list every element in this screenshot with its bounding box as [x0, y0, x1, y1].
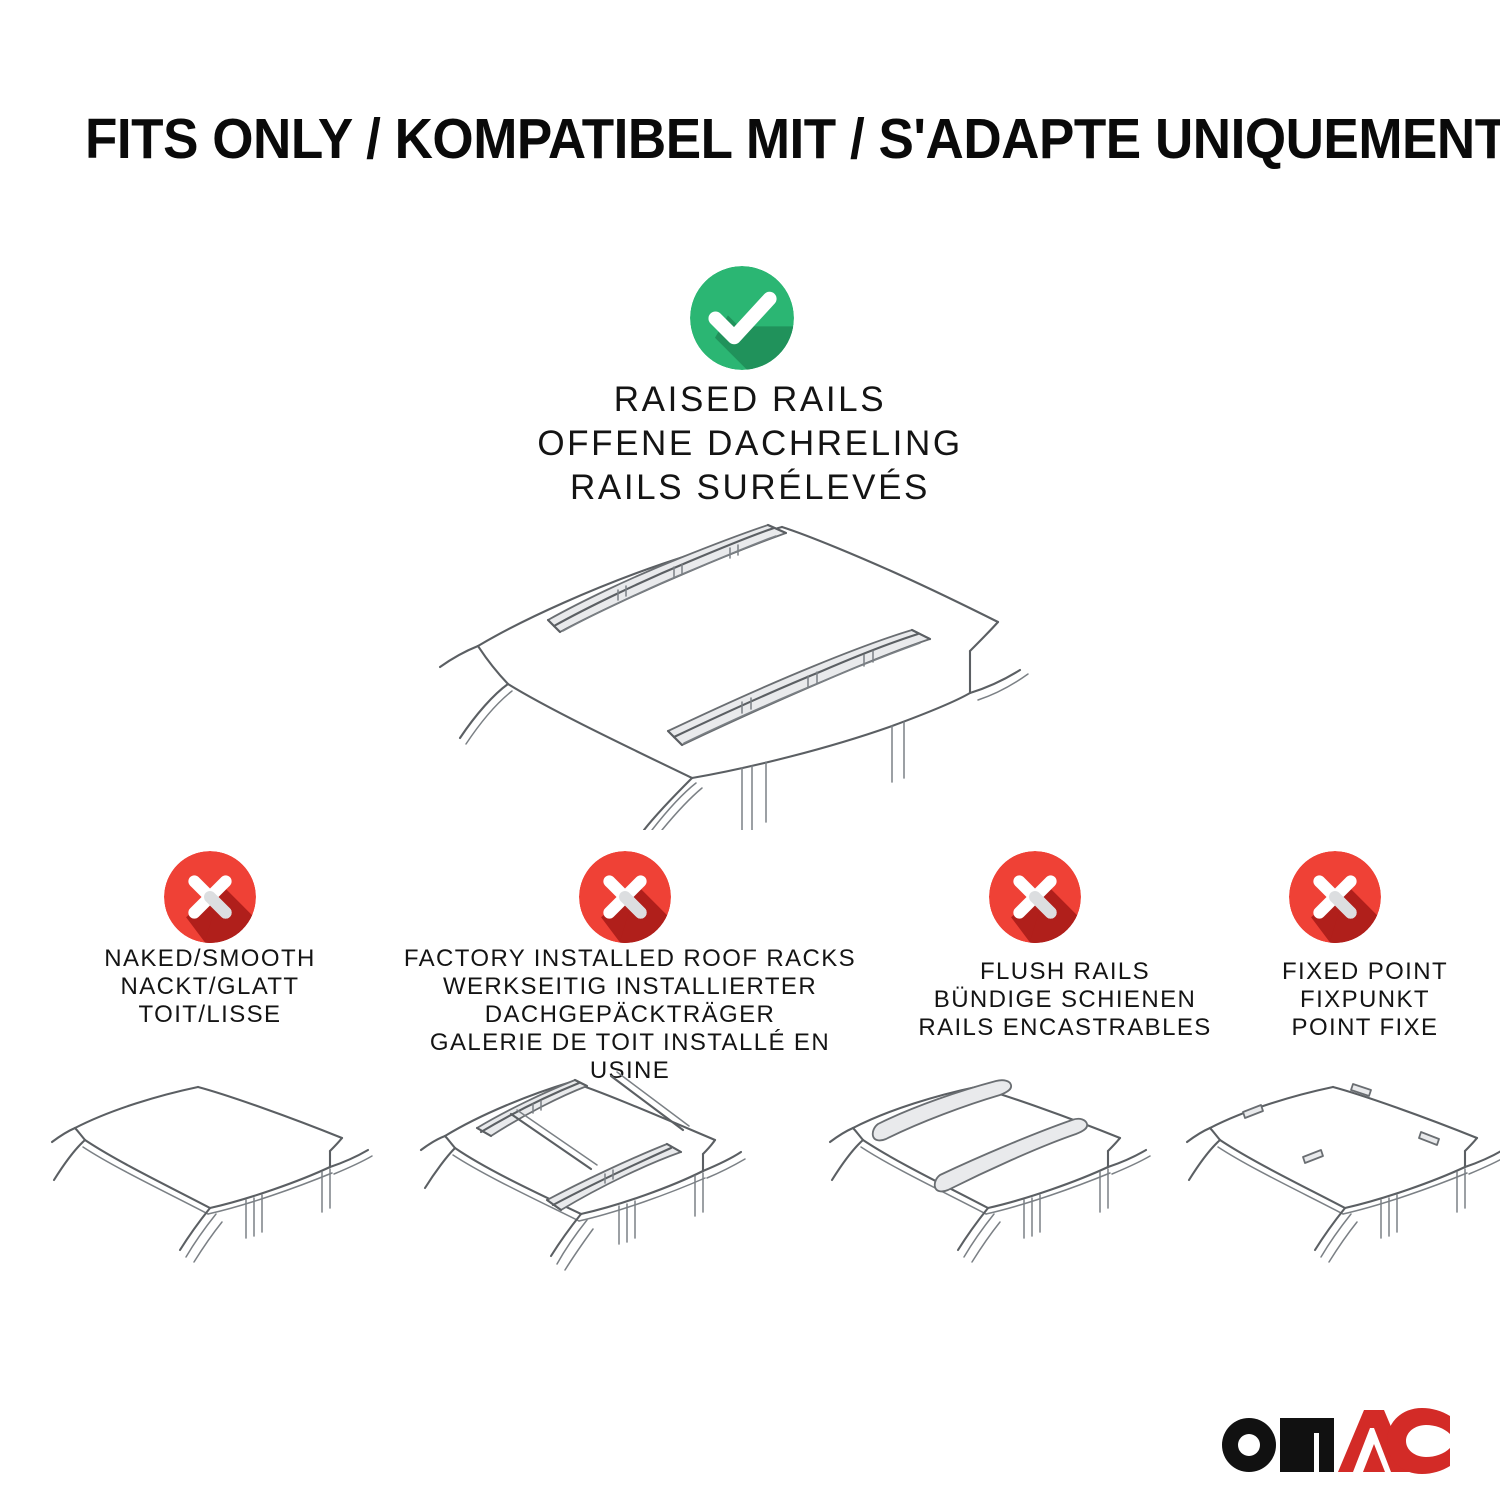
- incompatible-4-line-3: POINT FIXE: [1240, 1014, 1490, 1042]
- cross-circle-icon: [989, 851, 1081, 943]
- car-roof-factory-installed-roof-racks-illustration: [415, 1052, 765, 1267]
- omac-logo: [1218, 1404, 1450, 1476]
- incompatible-caption-3: FLUSH RAILS BÜNDIGE SCHIENEN RAILS ENCAS…: [855, 958, 1275, 1042]
- incompatible-3-line-3: RAILS ENCASTRABLES: [855, 1014, 1275, 1042]
- incompatible-4-line-2: FIXPUNKT: [1240, 986, 1490, 1014]
- incompatible-4-line-1: FIXED POINT: [1240, 958, 1490, 986]
- incompatible-1-line-3: TOIT/LISSE: [30, 1001, 390, 1029]
- incompatible-caption-1: NAKED/SMOOTH NACKT/GLATT TOIT/LISSE: [30, 945, 390, 1029]
- cross-circle-icon: [164, 851, 256, 943]
- logo-letter-o: [1222, 1418, 1276, 1472]
- incompatible-1-line-1: NAKED/SMOOTH: [30, 945, 390, 973]
- car-roof-fixed-point-illustration: [1185, 1062, 1500, 1277]
- incompatible-caption-4: FIXED POINT FIXPUNKT POINT FIXE: [1240, 958, 1490, 1042]
- car-roof-with-raised-rails-illustration: [430, 500, 1080, 830]
- incompatible-2-line-3: DACHGEPÄCKTRÄGER: [395, 1001, 865, 1029]
- check-circle-icon: [690, 266, 794, 370]
- page-title: FITS ONLY / KOMPATIBEL MIT / S'ADAPTE UN…: [85, 108, 1331, 170]
- incompatible-2-line-2: WERKSEITIG INSTALLIERTER: [395, 973, 865, 1001]
- incompatible-1-line-2: NACKT/GLATT: [30, 973, 390, 1001]
- incompatible-2-line-1: FACTORY INSTALLED ROOF RACKS: [395, 945, 865, 973]
- incompatible-3-line-1: FLUSH RAILS: [855, 958, 1275, 986]
- compatible-line-2: OFFENE DACHRELING: [470, 422, 1030, 466]
- cross-circle-icon: [579, 851, 671, 943]
- car-roof-naked-smooth-illustration: [50, 1062, 400, 1277]
- car-roof-flush-rails-illustration: [828, 1062, 1178, 1277]
- infographic-canvas: FITS ONLY / KOMPATIBEL MIT / S'ADAPTE UN…: [0, 0, 1500, 1500]
- cross-circle-icon: [1289, 851, 1381, 943]
- incompatible-3-line-2: BÜNDIGE SCHIENEN: [855, 986, 1275, 1014]
- compatible-line-1: RAISED RAILS: [470, 378, 1030, 422]
- logo-letter-m: [1280, 1418, 1334, 1472]
- compatible-caption: RAISED RAILS OFFENE DACHRELING RAILS SUR…: [470, 378, 1030, 510]
